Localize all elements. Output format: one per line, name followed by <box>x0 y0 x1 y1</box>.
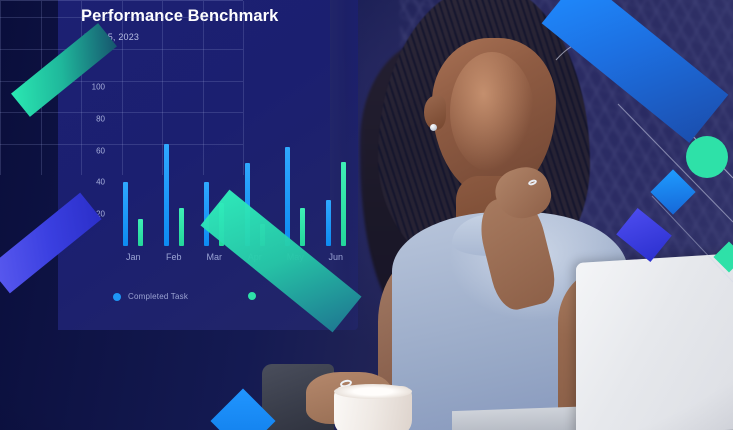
vignette-overlay <box>0 0 733 430</box>
hero-banner: Performance Benchmark July 15, 2023 2040… <box>0 0 733 430</box>
